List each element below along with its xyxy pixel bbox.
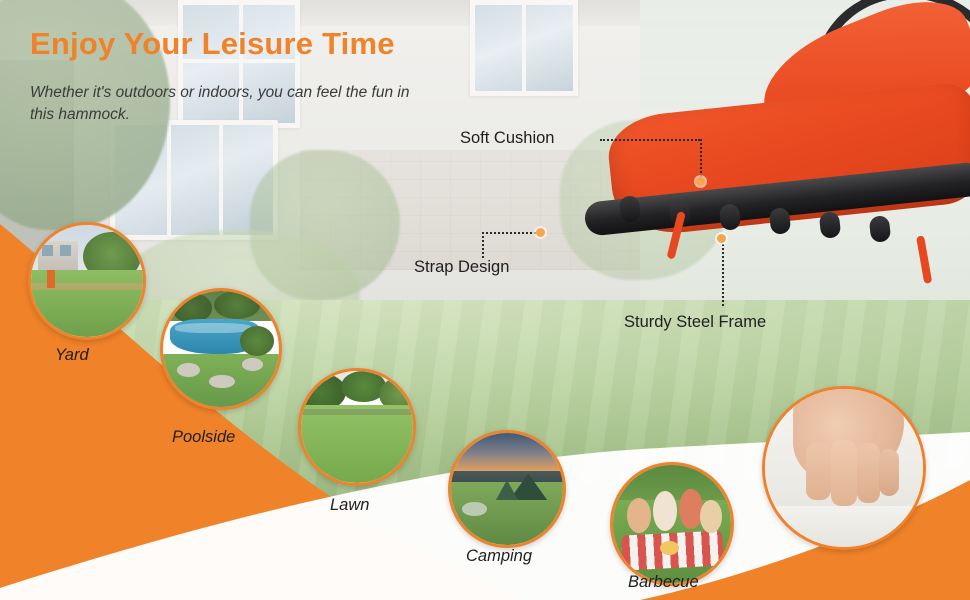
scene-image-poolside bbox=[163, 291, 279, 407]
scene-bubble-lawn bbox=[298, 368, 416, 486]
callout-marker-strap-design bbox=[536, 228, 545, 237]
scene-caption-poolside: Poolside bbox=[172, 428, 235, 447]
callout-label-strap-design: Strap Design bbox=[414, 258, 509, 277]
callout-marker-sturdy-steel-frame bbox=[717, 234, 726, 243]
scene-image-barbecue bbox=[613, 465, 731, 583]
scene-image-camping bbox=[451, 433, 563, 545]
callout-leader-frame-vertical bbox=[722, 240, 724, 306]
product-hammock bbox=[550, 0, 970, 300]
callout-marker-soft-cushion bbox=[696, 177, 705, 186]
hammock-strap-tie bbox=[916, 235, 932, 284]
scene-bubble-yard bbox=[28, 222, 146, 340]
callout-leader-soft-cushion bbox=[600, 139, 700, 141]
marketing-banner: Enjoy Your Leisure Time Whether it's out… bbox=[0, 0, 970, 600]
scene-caption-yard: Yard bbox=[55, 346, 89, 365]
callout-label-sturdy-steel-frame: Sturdy Steel Frame bbox=[624, 313, 766, 332]
scene-caption-barbecue: Barbecue bbox=[628, 573, 699, 592]
page-subtitle: Whether it's outdoors or indoors, you ca… bbox=[30, 82, 430, 127]
scene-bubble-barbecue bbox=[610, 462, 734, 586]
scene-bubble-poolside bbox=[160, 288, 282, 410]
scene-bubble-camping bbox=[448, 430, 566, 548]
scene-caption-lawn: Lawn bbox=[330, 496, 369, 515]
callout-leader-soft-cushion-vertical bbox=[700, 139, 702, 181]
callout-label-soft-cushion: Soft Cushion bbox=[460, 129, 554, 148]
frame-knob bbox=[869, 215, 892, 243]
scene-caption-camping: Camping bbox=[466, 547, 532, 566]
scene-image-yard bbox=[31, 225, 143, 337]
callout-leader-strap-horizontal bbox=[482, 232, 540, 234]
page-title: Enjoy Your Leisure Time bbox=[30, 26, 395, 62]
callout-leader-strap-vertical bbox=[482, 232, 484, 258]
scene-image-lawn bbox=[301, 371, 413, 483]
detail-image-hand-pressing-foam bbox=[765, 389, 923, 547]
detail-bubble-cushion-softness bbox=[762, 386, 926, 550]
